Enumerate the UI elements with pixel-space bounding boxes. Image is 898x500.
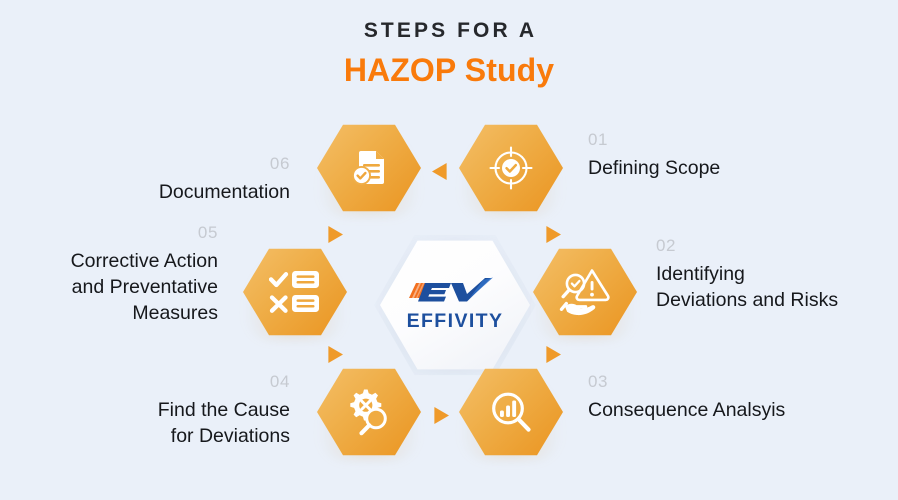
step-number-01: 01 (588, 129, 868, 151)
effivity-logo: EFFIVITY (407, 277, 504, 333)
step-hex-01[interactable] (459, 122, 563, 214)
step-text-05-line2: and Preventative (0, 275, 218, 301)
step-text-05-line3: Measures (0, 301, 218, 327)
step-text-05-line1: Corrective Action (0, 249, 218, 275)
step-text-04-line2: for Deviations (60, 424, 290, 450)
step-text-03: Consequence Analsyis (588, 398, 878, 424)
step-label-05: 05 Corrective Action and Preventative Me… (0, 222, 218, 327)
step-text-02-line2: Deviations and Risks (656, 288, 898, 314)
step-hex-04[interactable] (317, 366, 421, 458)
step-number-04: 04 (60, 371, 290, 393)
step-label-01: 01 Defining Scope (588, 129, 868, 182)
step-text-02-line1: Identifying (656, 262, 898, 288)
step-number-05: 05 (0, 222, 218, 244)
arrow-01-to-02-icon (544, 226, 561, 243)
gear-x-magnifier-icon (344, 387, 394, 437)
header-eyebrow: STEPS FOR A (0, 20, 898, 41)
step-label-06: 06 Documentation (70, 153, 290, 206)
step-text-06: Documentation (70, 180, 290, 206)
step-number-06: 06 (70, 153, 290, 175)
arrow-05-to-06-icon (326, 226, 343, 243)
step-label-04: 04 Find the Cause for Deviations (60, 371, 290, 450)
step-label-03: 03 Consequence Analsyis (588, 371, 878, 424)
step-hex-02[interactable] (533, 246, 637, 338)
step-label-02: 02 Identifying Deviations and Risks (656, 235, 898, 314)
step-hex-03[interactable] (459, 366, 563, 458)
page-title: HAZOP Study (0, 54, 898, 86)
step-hex-06[interactable] (317, 122, 421, 214)
header: STEPS FOR A HAZOP Study (0, 20, 898, 86)
arrow-02-to-03-icon (544, 346, 561, 363)
chart-magnifier-icon (486, 387, 536, 437)
step-hex-05[interactable] (243, 246, 347, 338)
document-check-icon (345, 144, 393, 192)
target-check-icon (486, 143, 536, 193)
step-text-04-line1: Find the Cause (60, 398, 290, 424)
risk-magnifier-hand-icon (559, 267, 611, 317)
infographic-canvas: STEPS FOR A HAZOP Study EFFIVITY (0, 0, 898, 500)
effivity-logo-wordmark: EFFIVITY (407, 310, 504, 333)
step-number-03: 03 (588, 371, 878, 393)
effivity-logo-mark-icon (407, 277, 503, 307)
checklist-check-x-icon (269, 269, 321, 315)
step-number-02: 02 (656, 235, 898, 257)
step-text-01: Defining Scope (588, 156, 868, 182)
arrow-05-to-04-icon (326, 346, 343, 363)
arrow-06-to-01-icon (432, 163, 449, 180)
arrow-04-to-03-icon (432, 407, 449, 424)
